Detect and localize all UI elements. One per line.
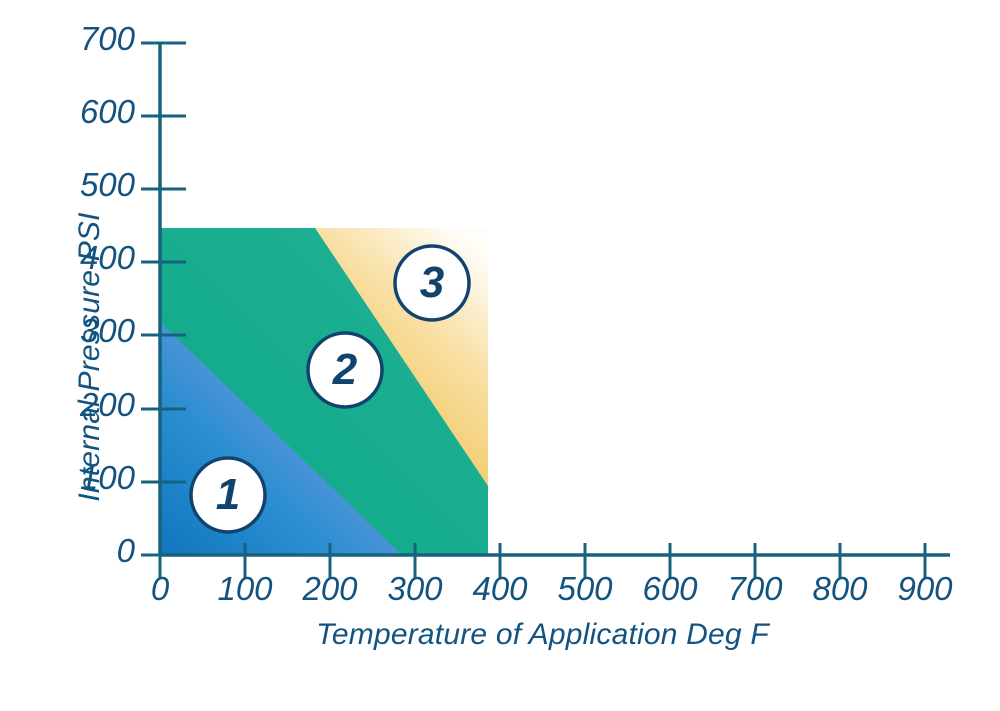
y-tick-label-200: 200 (10, 386, 135, 424)
y-tick-label-400: 400 (10, 239, 135, 277)
x-tick-label-100: 100 (205, 570, 285, 608)
region-marker-2-label: 2 (313, 345, 377, 395)
y-tick-label-300: 300 (10, 312, 135, 350)
y-tick-label-100: 100 (10, 459, 135, 497)
x-tick-label-200: 200 (290, 570, 370, 608)
x-tick-label-800: 800 (800, 570, 880, 608)
y-tick-label-0: 0 (10, 532, 135, 570)
x-tick-label-400: 400 (460, 570, 540, 608)
y-tick-label-500: 500 (10, 166, 135, 204)
y-tick-label-600: 600 (10, 93, 135, 131)
chart-canvas: Internal Pressure PSI Temperature of App… (0, 0, 1000, 711)
x-tick-label-600: 600 (630, 570, 710, 608)
x-tick-label-300: 300 (375, 570, 455, 608)
x-tick-label-700: 700 (715, 570, 795, 608)
x-tick-label-0: 0 (120, 570, 200, 608)
y-tick-label-700: 700 (10, 20, 135, 58)
x-tick-label-500: 500 (545, 570, 625, 608)
region-marker-3-label: 3 (400, 258, 464, 308)
region-marker-1-label: 1 (196, 470, 260, 520)
x-tick-label-900: 900 (885, 570, 965, 608)
